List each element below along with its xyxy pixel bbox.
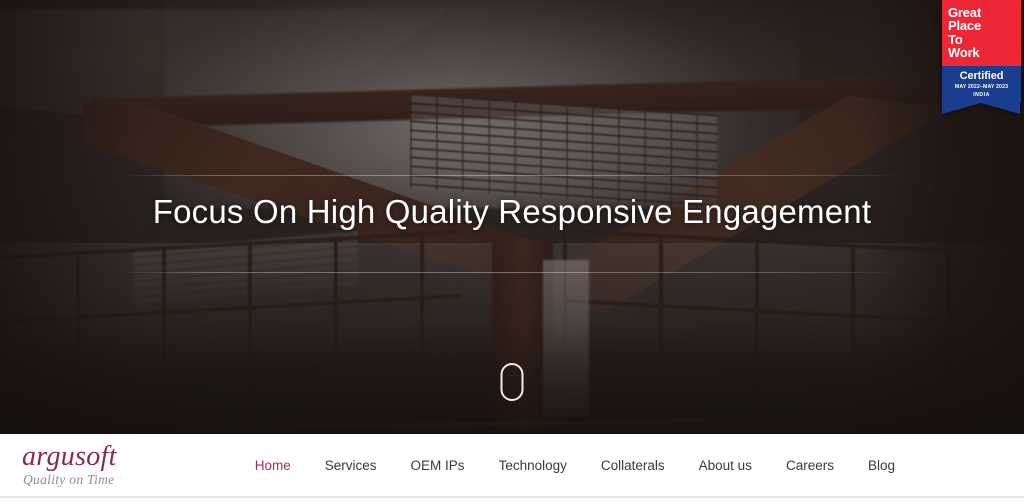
gptw-country-label: INDIA — [946, 92, 1017, 98]
gptw-valid-dates: MAY 2022–MAY 2023 — [946, 84, 1017, 90]
hero-headline: Focus On High Quality Responsive Engagem… — [153, 192, 871, 232]
logo-wordmark: argusoft — [22, 443, 117, 471]
site-header: argusoft Quality on Time Home Services O… — [0, 434, 1024, 497]
gptw-certified-label: Certified — [946, 70, 1017, 82]
hero-divider-top — [121, 175, 903, 176]
nav-item-blog[interactable]: Blog — [851, 458, 912, 473]
nav-item-collaterals[interactable]: Collaterals — [584, 458, 682, 473]
site-logo[interactable]: argusoft Quality on Time — [22, 443, 117, 487]
nav-item-services[interactable]: Services — [308, 458, 394, 473]
page-root: Focus On High Quality Responsive Engagem… — [0, 0, 1024, 503]
gptw-badge-red-panel: Great Place To Work — [942, 0, 1021, 66]
hero-banner: Focus On High Quality Responsive Engagem… — [0, 0, 1024, 434]
gptw-line-work: Work — [948, 46, 1015, 59]
gptw-line-place: Place — [948, 19, 1015, 32]
page-body-strip — [0, 498, 1024, 503]
gptw-line-great: Great — [948, 6, 1015, 19]
gptw-badge-blue-ribbon: Certified MAY 2022–MAY 2023 INDIA — [942, 66, 1021, 103]
scroll-wheel-dot — [511, 372, 514, 379]
great-place-to-work-badge[interactable]: Great Place To Work Certified MAY 2022–M… — [942, 0, 1021, 103]
nav-item-home[interactable]: Home — [238, 458, 308, 473]
nav-item-oem-ips[interactable]: OEM IPs — [394, 458, 482, 473]
nav-item-technology[interactable]: Technology — [482, 458, 584, 473]
scroll-down-mouse-icon[interactable] — [501, 363, 524, 401]
main-navigation: Home Services OEM IPs Technology Collate… — [238, 458, 912, 473]
logo-tagline: Quality on Time — [23, 473, 117, 487]
nav-item-about-us[interactable]: About us — [682, 458, 769, 473]
hero-divider-bottom — [121, 272, 903, 273]
gptw-line-to: To — [948, 33, 1015, 46]
nav-item-careers[interactable]: Careers — [769, 458, 851, 473]
